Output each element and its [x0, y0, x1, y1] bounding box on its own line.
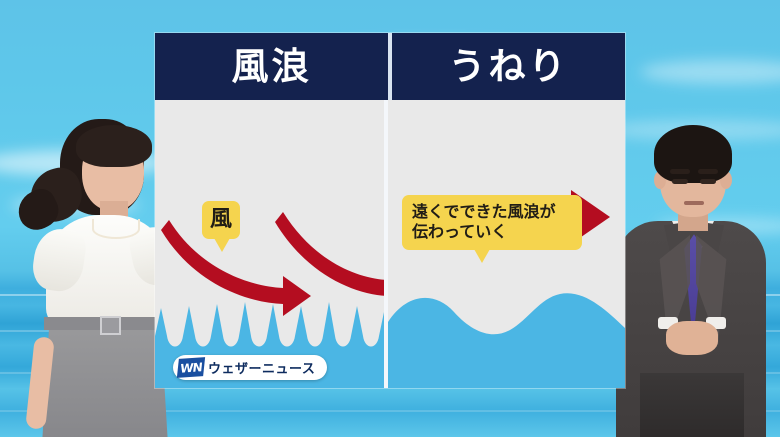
cloud-icon	[640, 60, 780, 84]
wave-comparison-graphic: 風浪 うねり 風	[155, 33, 625, 388]
clasped-hands	[666, 321, 718, 355]
panel-divider	[384, 100, 388, 388]
trousers	[640, 373, 744, 437]
eyebrow	[698, 169, 718, 174]
necklace	[92, 219, 140, 239]
mouth	[684, 201, 704, 205]
panel-swell: 遠くでできた風浪が 伝わっていく	[388, 100, 625, 388]
logo-text: ウェザーニュース	[208, 358, 315, 377]
swell-label-line-2: 伝わっていく	[412, 222, 572, 242]
broadcast-frame: 風浪 うねり 風	[0, 0, 780, 437]
wind-label-bubble: 風	[202, 201, 240, 239]
eye	[672, 179, 688, 184]
right-presenter	[610, 125, 770, 437]
eyebrow	[670, 169, 690, 174]
swell-label-bubble: 遠くでできた風浪が 伝わっていく	[402, 195, 582, 250]
wn-mark-icon: WN	[177, 357, 205, 378]
swell-label-line-1: 遠くでできた風浪が	[412, 202, 572, 222]
eye	[700, 179, 716, 184]
hair	[654, 125, 732, 183]
hair-fringe	[76, 125, 152, 167]
graphic-header: 風浪 うねり	[155, 33, 625, 100]
header-swell: うねり	[392, 33, 625, 100]
wind-arrow-illustration	[155, 100, 384, 388]
skirt	[42, 319, 168, 437]
panel-wind-wave: 風	[155, 100, 384, 388]
header-wind-wave: 風浪	[155, 33, 388, 100]
weathernews-logo: WN ウェザーニュース	[173, 355, 327, 380]
belt-buckle	[100, 316, 121, 335]
graphic-body: 風	[155, 100, 625, 388]
wind-label-text: 風	[210, 206, 232, 234]
